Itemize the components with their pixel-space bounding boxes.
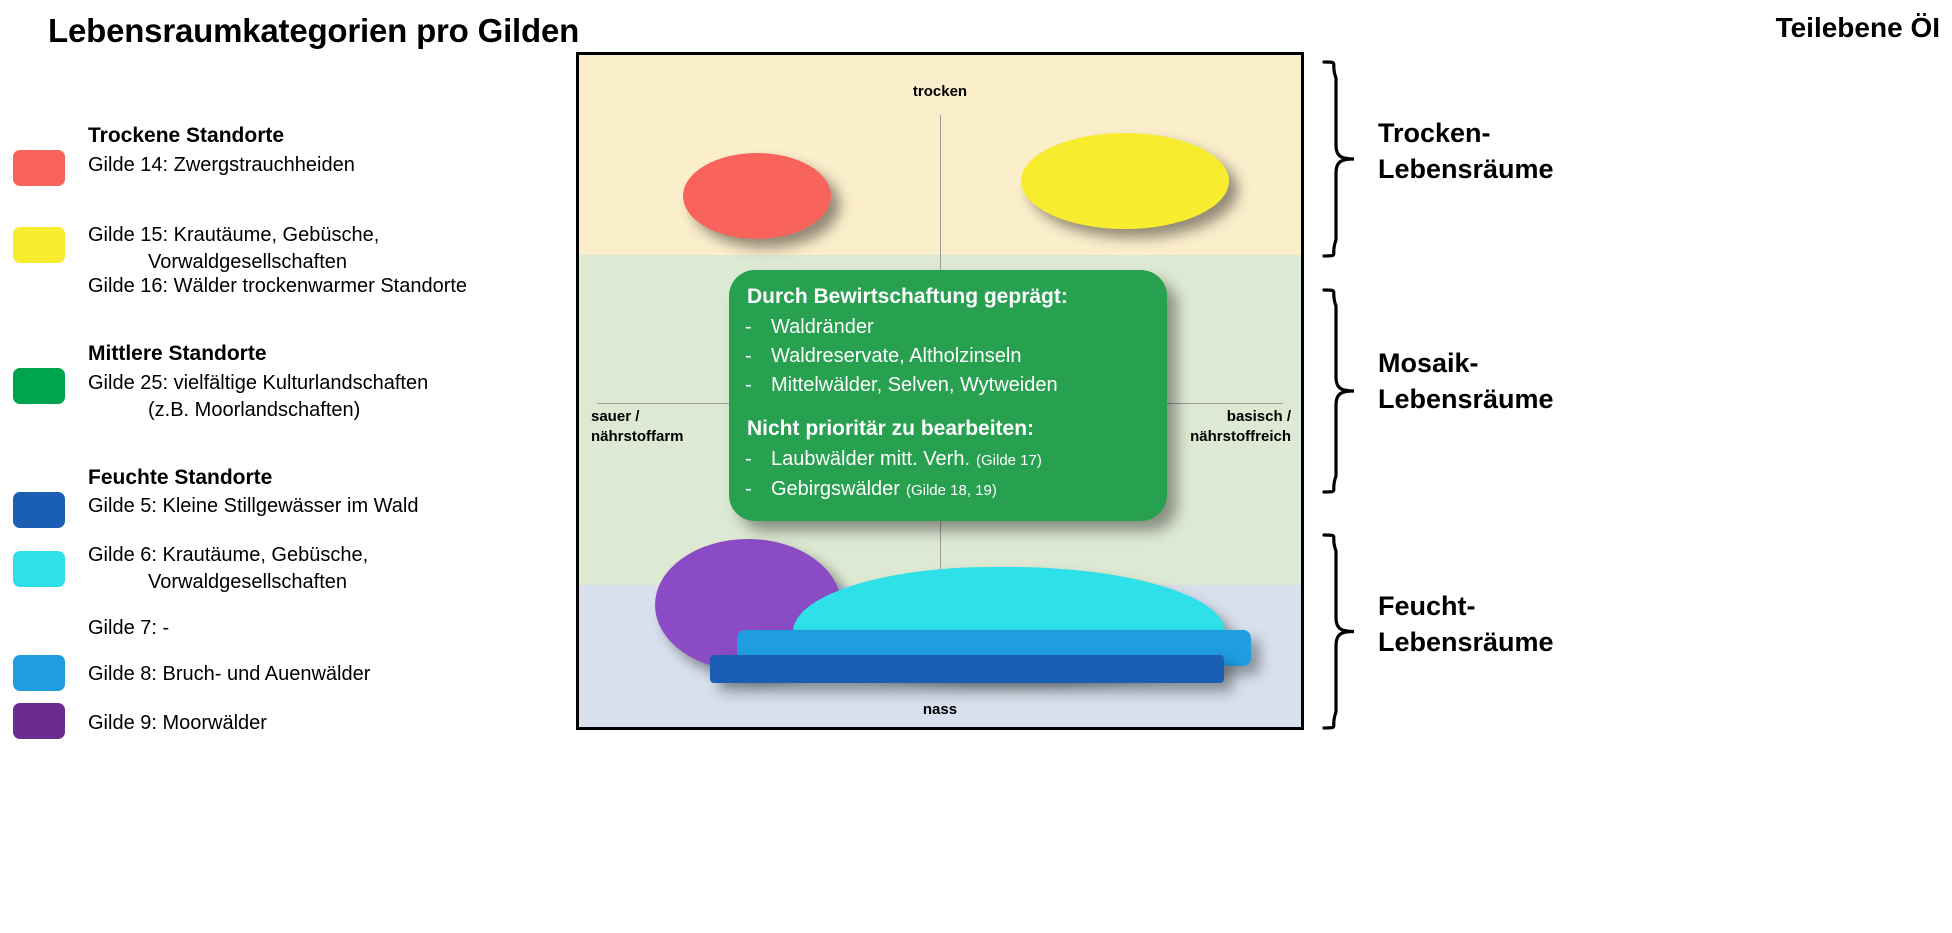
axis-label-basisch: basisch / nährstoffreich bbox=[1190, 407, 1291, 447]
callout-box: Durch Bewirtschaftung geprägt: -Waldränd… bbox=[729, 270, 1167, 521]
bullet-dash-icon: - bbox=[745, 475, 771, 504]
callout-2-item-note: (Gilde 18, 19) bbox=[906, 476, 997, 505]
legend-item-label: Gilde 6: Krautäume, Gebüsche,Vorwaldgese… bbox=[88, 542, 368, 596]
callout-2-item: -Gebirgswälder(Gilde 18, 19) bbox=[745, 475, 1151, 505]
legend-item-label-continued: Vorwaldgesellschaften bbox=[88, 569, 368, 596]
legend-swatch-2-1 bbox=[13, 551, 65, 587]
callout-2-item-text: Laubwälder mitt. Verh. bbox=[771, 445, 970, 474]
teilebene-header: Teilebene ÖI bbox=[1776, 12, 1940, 44]
axis-label-sauer: sauer / nährstoffarm bbox=[591, 407, 684, 447]
curly-brace-icon bbox=[1320, 288, 1358, 494]
bullet-dash-icon: - bbox=[745, 445, 771, 474]
legend-swatch-2-0 bbox=[13, 492, 65, 528]
callout-1-item-text: Waldränder bbox=[771, 313, 874, 342]
curly-brace-icon bbox=[1320, 533, 1358, 730]
blob-gilde-15 bbox=[1021, 133, 1229, 229]
brace-label-2: Feucht- Lebensräume bbox=[1378, 588, 1554, 660]
curly-brace-icon bbox=[1320, 60, 1358, 258]
callout-list-2: -Laubwälder mitt. Verh.(Gilde 17)-Gebirg… bbox=[745, 445, 1151, 505]
axis-label-nass: nass bbox=[579, 700, 1301, 720]
legend-item-label: Gilde 5: Kleine Stillgewässer im Wald bbox=[88, 493, 419, 520]
legend-item-label: Gilde 16: Wälder trockenwarmer Standorte bbox=[88, 273, 467, 300]
legend-item-label: Gilde 9: Moorwälder bbox=[88, 710, 267, 737]
callout-1-item-text: Mittelwälder, Selven, Wytweiden bbox=[771, 371, 1058, 400]
page-title: Lebensraumkategorien pro Gilden bbox=[48, 12, 579, 50]
callout-2-item-text: Gebirgswälder bbox=[771, 475, 900, 504]
legend-swatch-0-0 bbox=[13, 150, 65, 186]
bullet-dash-icon: - bbox=[745, 371, 771, 400]
callout-1-item: -Waldränder bbox=[745, 313, 1151, 342]
callout-2-item-note: (Gilde 17) bbox=[976, 446, 1042, 475]
bullet-dash-icon: - bbox=[745, 313, 771, 342]
brace-label-0: Trocken- Lebensräume bbox=[1378, 115, 1554, 187]
callout-1-item: -Mittelwälder, Selven, Wytweiden bbox=[745, 371, 1151, 400]
legend-item-label: Gilde 15: Krautäume, Gebüsche,Vorwaldges… bbox=[88, 222, 379, 276]
legend-swatch-1-0 bbox=[13, 368, 65, 404]
legend-swatch-0-1 bbox=[13, 227, 65, 263]
legend-group-heading-2: Feuchte Standorte bbox=[88, 466, 272, 490]
legend-item-label-continued: (z.B. Moorlandschaften) bbox=[88, 397, 428, 424]
blob-gilde-5 bbox=[710, 655, 1224, 683]
diagram-panel: trocken nass sauer / nährstoffarm basisc… bbox=[576, 52, 1304, 730]
legend-group-heading-0: Trockene Standorte bbox=[88, 124, 284, 148]
legend-group-heading-1: Mittlere Standorte bbox=[88, 342, 267, 366]
brace-label-1: Mosaik- Lebensräume bbox=[1378, 345, 1554, 417]
callout-1-item-text: Waldreservate, Altholzinseln bbox=[771, 342, 1022, 371]
blob-gilde-14 bbox=[683, 153, 831, 239]
callout-heading-2: Nicht prioritär zu bearbeiten: bbox=[747, 414, 1151, 444]
legend-item-label: Gilde 7: - bbox=[88, 615, 169, 642]
callout-2-item: -Laubwälder mitt. Verh.(Gilde 17) bbox=[745, 445, 1151, 475]
legend-item-label: Gilde 8: Bruch- und Auenwälder bbox=[88, 661, 370, 688]
axis-label-trocken: trocken bbox=[579, 82, 1301, 102]
legend-swatch-2-4 bbox=[13, 703, 65, 739]
legend-item-label: Gilde 25: vielfältige Kulturlandschaften… bbox=[88, 370, 428, 424]
bullet-dash-icon: - bbox=[745, 342, 771, 371]
legend-swatch-2-3 bbox=[13, 655, 65, 691]
legend-item-label: Gilde 14: Zwergstrauchheiden bbox=[88, 152, 355, 179]
callout-1-item: -Waldreservate, Altholzinseln bbox=[745, 342, 1151, 371]
callout-list-1: -Waldränder-Waldreservate, Altholzinseln… bbox=[745, 313, 1151, 400]
callout-heading-1: Durch Bewirtschaftung geprägt: bbox=[747, 282, 1151, 312]
right-annotations: Teilebene ÖI Trocken- LebensräumeMosaik-… bbox=[1310, 0, 1952, 933]
legend-item-label-continued: Vorwaldgesellschaften bbox=[88, 249, 379, 276]
